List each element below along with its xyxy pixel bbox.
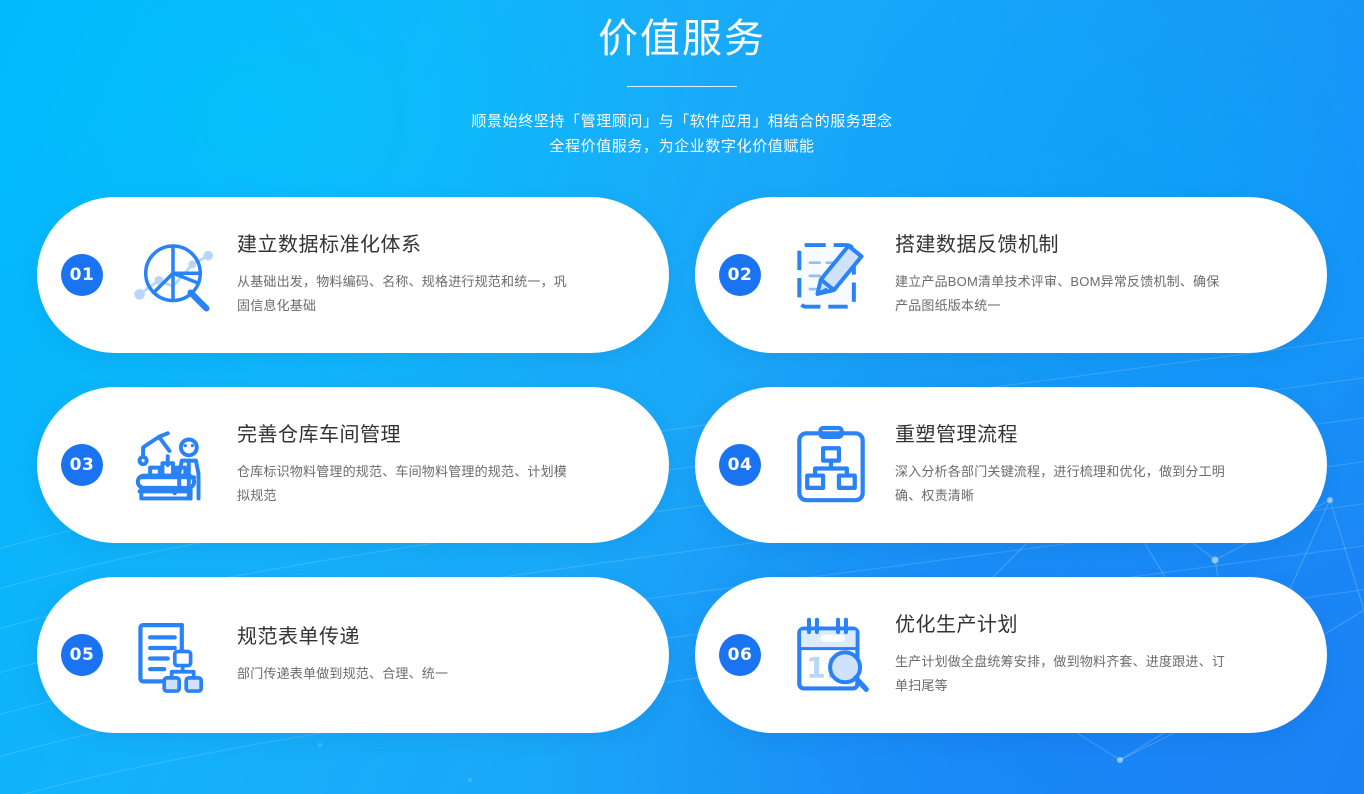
clipboard-orgchart-icon <box>783 417 879 513</box>
calendar-search-icon: 11 <box>783 607 879 703</box>
card-text: 重塑管理流程 深入分析各部门关键流程，进行梳理和优化，做到分工明确、权责清晰 <box>879 422 1327 508</box>
page-subtitle: 顺景始终坚持「管理顾问」与「软件应用」相结合的服务理念 全程价值服务，为企业数字… <box>0 109 1364 159</box>
card-text: 完善仓库车间管理 仓库标识物料管理的规范、车间物料管理的规范、计划模拟规范 <box>221 422 669 508</box>
service-card[interactable]: 02 搭建数据反馈机制 建立产品BOM清单技术评审、BOM异常反馈机制、确保产品… <box>695 197 1327 353</box>
card-description: 深入分析各部门关键流程，进行梳理和优化，做到分工明确、权责清晰 <box>895 460 1225 508</box>
card-text: 搭建数据反馈机制 建立产品BOM清单技术评审、BOM异常反馈机制、确保产品图纸版… <box>879 232 1327 318</box>
card-text: 规范表单传递 部门传递表单做到规范、合理、统一 <box>221 624 669 686</box>
card-number-badge: 02 <box>719 254 761 296</box>
card-description: 仓库标识物料管理的规范、车间物料管理的规范、计划模拟规范 <box>237 460 567 508</box>
card-description: 生产计划做全盘统筹安排，做到物料齐套、进度跟进、订单扫尾等 <box>895 650 1225 698</box>
card-number-badge: 04 <box>719 444 761 486</box>
page-title: 价值服务 <box>0 14 1364 64</box>
title-divider <box>627 86 737 87</box>
card-title: 建立数据标准化体系 <box>237 232 635 258</box>
pie-chart-magnifier-icon <box>125 227 221 323</box>
card-description: 从基础出发，物料编码、名称、规格进行规范和统一，巩固信息化基础 <box>237 270 567 318</box>
card-text: 优化生产计划 生产计划做全盘统筹安排，做到物料齐套、进度跟进、订单扫尾等 <box>879 612 1327 698</box>
service-cards-grid: 01 建立数据标准化体系 <box>37 159 1327 733</box>
document-pencil-icon <box>783 227 879 323</box>
card-title: 规范表单传递 <box>237 624 635 650</box>
card-title: 优化生产计划 <box>895 612 1293 638</box>
card-number-badge: 06 <box>719 634 761 676</box>
card-number-badge: 01 <box>61 254 103 296</box>
card-title: 完善仓库车间管理 <box>237 422 635 448</box>
service-card[interactable]: 01 建立数据标准化体系 <box>37 197 669 353</box>
card-text: 建立数据标准化体系 从基础出发，物料编码、名称、规格进行规范和统一，巩固信息化基… <box>221 232 669 318</box>
card-title: 搭建数据反馈机制 <box>895 232 1293 258</box>
service-card[interactable]: 04 重塑管理流程 深入分析各部门关键流程，进行梳理和优化，做到分工明确、权责清… <box>695 387 1327 543</box>
card-number-badge: 05 <box>61 634 103 676</box>
subtitle-line-1: 顺景始终坚持「管理顾问」与「软件应用」相结合的服务理念 <box>0 109 1364 134</box>
service-card[interactable]: 05 规范表单传递 部门传递表单做 <box>37 577 669 733</box>
card-description: 部门传递表单做到规范、合理、统一 <box>237 662 567 686</box>
card-title: 重塑管理流程 <box>895 422 1293 448</box>
factory-worker-icon <box>125 417 221 513</box>
card-number-badge: 03 <box>61 444 103 486</box>
card-description: 建立产品BOM清单技术评审、BOM异常反馈机制、确保产品图纸版本统一 <box>895 270 1225 318</box>
service-card[interactable]: 06 11 优化生产计划 生产计划做全盘统筹安排，做到物料齐套、进度跟进、 <box>695 577 1327 733</box>
page-header: 价值服务 顺景始终坚持「管理顾问」与「软件应用」相结合的服务理念 全程价值服务，… <box>0 0 1364 159</box>
service-card[interactable]: 03 <box>37 387 669 543</box>
document-flow-icon <box>125 607 221 703</box>
subtitle-line-2: 全程价值服务，为企业数字化价值赋能 <box>0 134 1364 159</box>
